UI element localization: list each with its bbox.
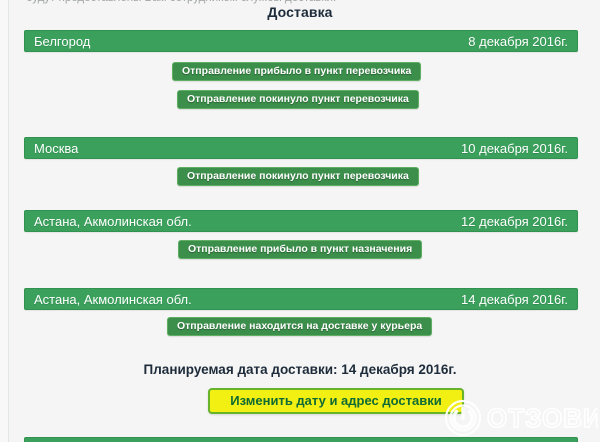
location-date: 10 декабря 2016г. <box>461 138 568 159</box>
location-bar: Белгород8 декабря 2016г. <box>24 30 578 52</box>
next-location-bar-partial <box>24 437 578 442</box>
status-badge: Отправление покинуло пункт перевозчика <box>177 90 419 109</box>
location-bar: Астана, Акмолинская обл.14 декабря 2016г… <box>24 288 578 310</box>
location-date: 8 декабря 2016г. <box>468 31 568 52</box>
location-bar: Астана, Акмолинская обл.12 декабря 2016г… <box>24 210 578 232</box>
delivery-tracking-screen: будут предоставлены Вам сотрудником служ… <box>0 0 600 442</box>
location-city: Москва <box>34 138 78 159</box>
location-city: Белгород <box>34 31 90 52</box>
status-badge: Отправление прибыло в пункт перевозчика <box>172 62 421 81</box>
location-city: Астана, Акмолинская обл. <box>34 211 192 232</box>
location-bar: Москва10 декабря 2016г. <box>24 137 578 159</box>
location-city: Астана, Акмолинская обл. <box>34 289 192 310</box>
status-badge: Отправление прибыло в пункт назначения <box>178 240 422 259</box>
watermark-svg: ОТЗОВИК <box>443 398 598 438</box>
location-date: 14 декабря 2016г. <box>461 289 568 310</box>
location-date: 12 декабря 2016г. <box>461 211 568 232</box>
otzovik-watermark: ОТЗОВИК <box>443 398 598 438</box>
planned-delivery-date: Планируемая дата доставки: 14 декабря 20… <box>0 362 600 377</box>
page-title: Доставка <box>0 4 600 20</box>
status-badge: Отправление находится на доставке у курь… <box>167 317 432 336</box>
status-badge: Отправление покинуло пункт перевозчика <box>177 167 419 186</box>
change-delivery-date-address-button[interactable]: Изменить дату и адрес доставки <box>208 388 464 414</box>
watermark-text: ОТЗОВИК <box>487 403 598 433</box>
